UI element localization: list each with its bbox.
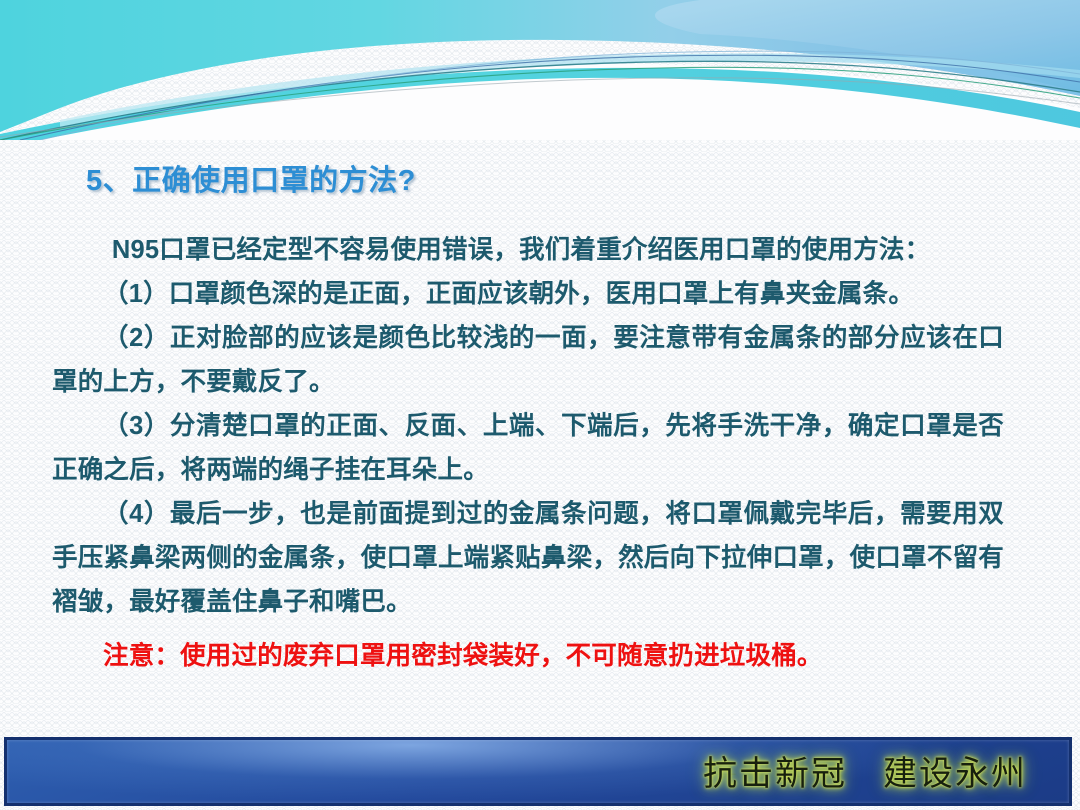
paragraph-intro: N95口罩已经定型不容易使用错误，我们着重介绍医用口罩的使用方法： <box>52 228 1004 272</box>
slide-canvas: 5、正确使用口罩的方法? N95口罩已经定型不容易使用错误，我们着重介绍医用口罩… <box>0 0 1080 810</box>
paragraph-step-3: （3）分清楚口罩的正面、反面、上端、下端后，先将手洗干净，确定口罩是否正确之后，… <box>52 404 1004 492</box>
footer-slogan: 抗击新冠 建设永州 <box>703 746 1027 795</box>
warning-note: 注意：使用过的废弃口罩用密封袋装好，不可随意扔进垃圾桶。 <box>52 634 1004 678</box>
page-title: 5、正确使用口罩的方法? <box>86 157 416 199</box>
paragraph-step-4: （4）最后一步，也是前面提到过的金属条问题，将口罩佩戴完毕后，需要用双手压紧鼻梁… <box>52 492 1004 624</box>
paragraph-step-2: （2）正对脸部的应该是颜色比较浅的一面，要注意带有金属条的部分应该在口罩的上方，… <box>52 316 1004 404</box>
footer-bar: 抗击新冠 建设永州 抗击新冠 建设永州 <box>4 737 1072 806</box>
slide-content: 5、正确使用口罩的方法? N95口罩已经定型不容易使用错误，我们着重介绍医用口罩… <box>0 0 1080 810</box>
paragraph-step-1: （1）口罩颜色深的是正面，正面应该朝外，医用口罩上有鼻夹金属条。 <box>52 272 1004 316</box>
body-text-block: N95口罩已经定型不容易使用错误，我们着重介绍医用口罩的使用方法： （1）口罩颜… <box>52 228 1004 624</box>
